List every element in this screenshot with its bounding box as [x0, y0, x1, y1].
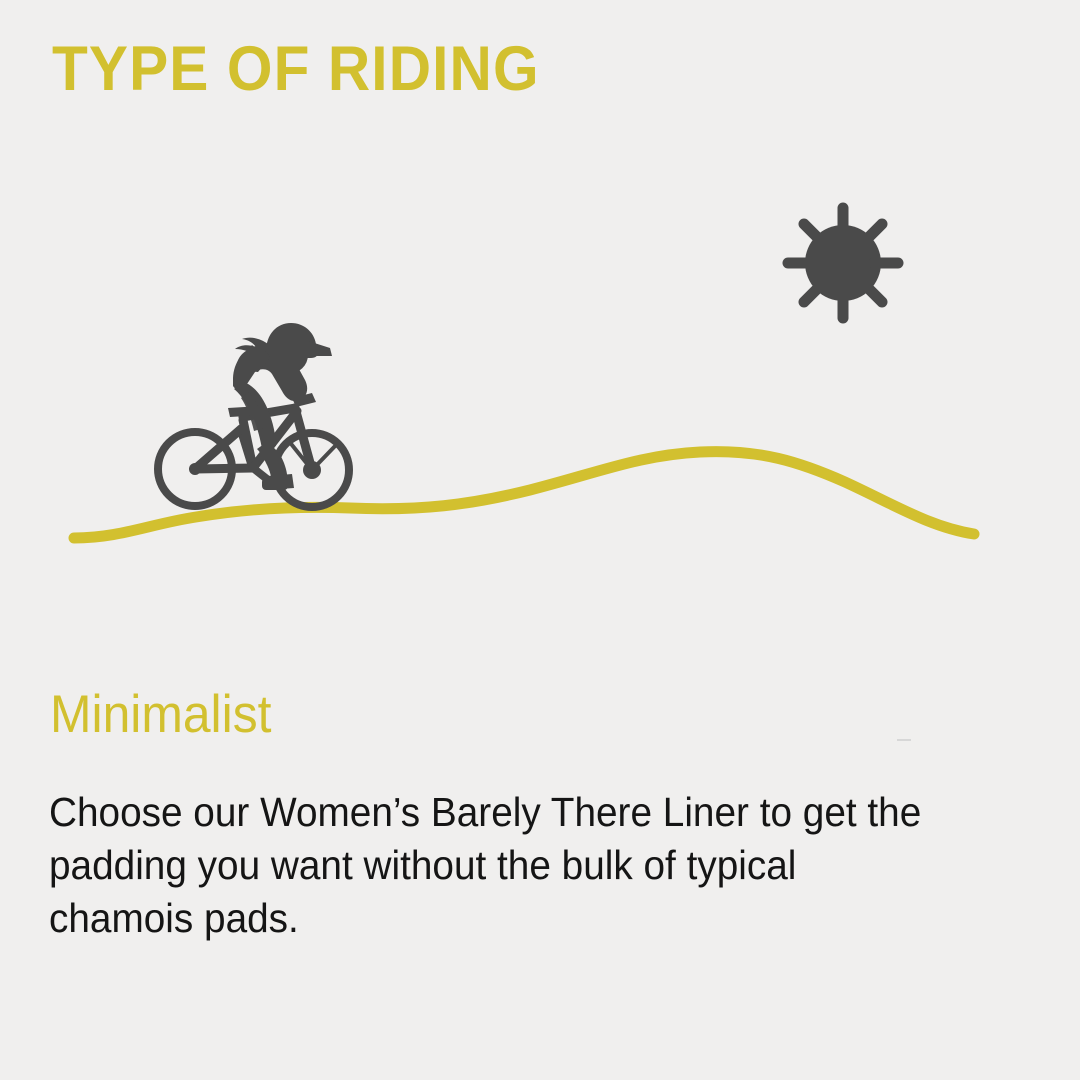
woman-mountain-biker-icon: [158, 323, 349, 507]
rider-thigh: [234, 382, 276, 449]
rider-shin: [257, 444, 287, 486]
section-subheading: Minimalist: [50, 687, 271, 743]
riding-type-card: TYPE OF RIDING: [0, 0, 1080, 1080]
rolling-hills-line: [74, 452, 974, 538]
bike-hubs: [189, 461, 321, 479]
bike-drivetrain: [253, 468, 272, 483]
rider-helmet: [266, 323, 318, 358]
rider-far-leg: [241, 392, 264, 431]
rider-ponytail-tip: [245, 345, 261, 368]
body-copy-line: padding you want without the bulk of typ…: [49, 839, 985, 892]
bike-wheels: [158, 432, 349, 507]
bike-handlebar: [292, 393, 316, 407]
bike-frame: [195, 408, 312, 470]
sun-icon: [788, 208, 898, 318]
rider-shoulder: [236, 348, 270, 372]
body-copy-line: Choose our Women’s Barely There Liner to…: [49, 786, 985, 839]
bike-pedal: [262, 478, 288, 490]
rider-arm: [277, 368, 305, 399]
rider-head: [268, 336, 308, 374]
helmet-visor: [304, 340, 332, 356]
bike-saddle: [228, 406, 262, 417]
compression-artifact-mark: [897, 739, 911, 741]
rider-forearm: [272, 366, 306, 404]
body-copy-line: chamois pads.: [49, 892, 985, 945]
rider-ponytail: [235, 338, 269, 360]
rider-torso: [233, 344, 307, 401]
rider-shoe: [266, 474, 294, 490]
body-copy: Choose our Women’s Barely There Liner to…: [49, 786, 1039, 945]
front-spokes: [288, 440, 337, 470]
page-title: TYPE OF RIDING: [52, 36, 540, 102]
